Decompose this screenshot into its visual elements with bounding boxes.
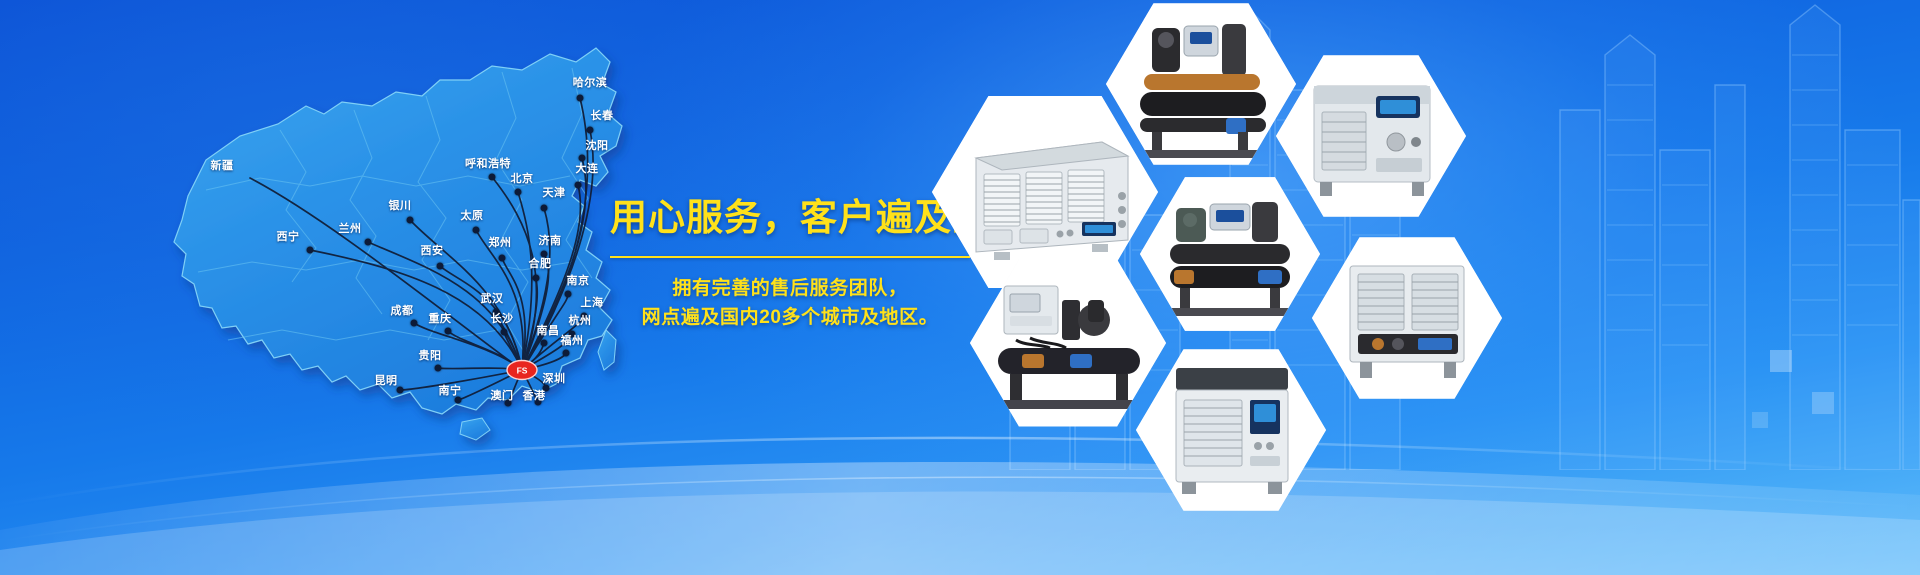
city-label[interactable]: 南京 (567, 272, 590, 288)
city-dot[interactable] (563, 350, 570, 357)
city-dot[interactable] (365, 239, 372, 246)
industrial-water-chiller-box-icon (1276, 52, 1466, 220)
city-label[interactable]: 哈尔滨 (573, 74, 608, 90)
city-dot[interactable] (575, 182, 582, 189)
city-label[interactable]: 香港 (523, 387, 546, 403)
city-label[interactable]: 大连 (576, 160, 599, 176)
city-dot[interactable] (565, 291, 572, 298)
city-dot[interactable] (489, 174, 496, 181)
water-cooled-screw-unit-icon (1140, 174, 1320, 334)
city-dot[interactable] (473, 227, 480, 234)
cabinet-chiller-icon (1136, 346, 1326, 514)
city-label[interactable]: 上海 (581, 294, 604, 310)
copy-block: 用心服务，客户遍及全国 拥有完善的售后服务团队， 网点遍及国内20多个城市及地区… (610, 198, 970, 333)
city-dot[interactable] (541, 340, 548, 347)
open-type-chiller-icon (1312, 234, 1502, 402)
city-label[interactable]: 贵阳 (419, 347, 442, 363)
headline: 用心服务，客户遍及全国 (610, 198, 970, 239)
subcopy: 拥有完善的售后服务团队， 网点遍及国内20多个城市及地区。 (610, 274, 970, 333)
city-label[interactable]: 新疆 (211, 157, 234, 173)
screw-compressor-unit-icon (1106, 0, 1296, 168)
city-dot[interactable] (307, 247, 314, 254)
product-hex-industrial-water-chiller-box[interactable] (1276, 52, 1466, 220)
city-label[interactable]: 澳门 (491, 387, 514, 403)
divider-rule (610, 256, 970, 258)
city-label[interactable]: 昆明 (375, 372, 398, 388)
city-label[interactable]: 南昌 (537, 322, 560, 338)
city-label[interactable]: 北京 (511, 170, 534, 186)
city-label[interactable]: 兰州 (339, 220, 362, 236)
city-dot[interactable] (397, 387, 404, 394)
product-hex-screw-compressor-unit[interactable] (1106, 0, 1296, 168)
city-label[interactable]: 深圳 (543, 370, 566, 386)
city-label[interactable]: 天津 (543, 184, 566, 200)
city-label[interactable]: 成都 (391, 302, 414, 318)
city-label[interactable]: 长沙 (491, 310, 514, 326)
city-label[interactable]: 合肥 (529, 255, 552, 271)
city-dot[interactable] (533, 275, 540, 282)
subcopy-line-1: 拥有完善的售后服务团队， (610, 274, 970, 303)
city-label[interactable]: 济南 (539, 232, 562, 248)
product-hex-cabinet-chiller[interactable] (1136, 346, 1326, 514)
city-label[interactable]: 沈阳 (586, 137, 609, 153)
city-label[interactable]: 南宁 (439, 382, 462, 398)
city-label[interactable]: 西安 (421, 242, 444, 258)
city-dot[interactable] (435, 365, 442, 372)
product-hex-open-type-chiller[interactable] (1312, 234, 1502, 402)
city-label[interactable]: 福州 (561, 332, 584, 348)
city-dot[interactable] (501, 329, 508, 336)
city-label[interactable]: 长春 (591, 107, 614, 123)
product-hex-grid (960, 0, 1660, 575)
city-dot[interactable] (541, 205, 548, 212)
hub-marker-foshan[interactable]: FS (505, 358, 539, 382)
svg-text:FS: FS (517, 366, 528, 376)
city-label[interactable]: 银川 (389, 197, 412, 213)
city-label[interactable]: 杭州 (569, 312, 592, 328)
city-label[interactable]: 西宁 (277, 228, 300, 244)
city-dot[interactable] (499, 255, 506, 262)
city-dot[interactable] (411, 320, 418, 327)
city-dot[interactable] (437, 263, 444, 270)
city-label[interactable]: 武汉 (481, 290, 504, 306)
city-label[interactable]: 郑州 (489, 234, 512, 250)
city-label[interactable]: 呼和浩特 (465, 155, 511, 171)
subcopy-line-2: 网点遍及国内20多个城市及地区。 (610, 303, 970, 332)
location-pin-icon: FS (505, 358, 539, 382)
product-hex-water-cooled-screw-unit[interactable] (1140, 174, 1320, 334)
service-network-banner: 新疆哈尔滨长春沈阳呼和浩特北京大连天津银川太原兰州西宁郑州西安济南合肥南京武汉上… (0, 0, 1920, 575)
city-dot[interactable] (407, 217, 414, 224)
city-dot[interactable] (515, 189, 522, 196)
city-label[interactable]: 太原 (461, 207, 484, 223)
city-dot[interactable] (445, 328, 452, 335)
city-dot[interactable] (587, 127, 594, 134)
city-label[interactable]: 重庆 (429, 310, 452, 326)
city-dot[interactable] (577, 95, 584, 102)
